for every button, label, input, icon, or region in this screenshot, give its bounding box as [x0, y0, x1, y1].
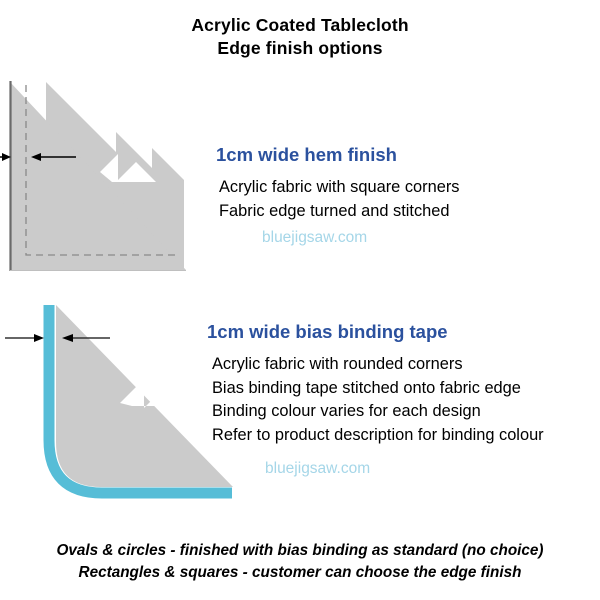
bias-watermark: bluejigsaw.com [207, 458, 600, 480]
bias-description-line: Acrylic fabric with rounded corners [212, 353, 600, 377]
page-title: Acrylic Coated Tablecloth Edge finish op… [0, 14, 600, 60]
bias-description-line: Bias binding tape stitched onto fabric e… [212, 377, 600, 401]
title-line-1: Acrylic Coated Tablecloth [0, 14, 600, 37]
bias-description-list: Acrylic fabric with rounded corners Bias… [207, 353, 600, 447]
diagram-canvas: Acrylic Coated Tablecloth Edge finish op… [0, 0, 600, 600]
footer-note: Ovals & circles - finished with bias bin… [0, 540, 600, 584]
hem-finish-text-block: 1cm wide hem finish Acrylic fabric with … [210, 143, 600, 249]
footer-line-1: Ovals & circles - finished with bias bin… [0, 540, 600, 562]
hem-section-heading: 1cm wide hem finish [210, 143, 600, 167]
hem-watermark: bluejigsaw.com [210, 227, 600, 249]
title-line-2: Edge finish options [0, 37, 600, 60]
bias-section-heading: 1cm wide bias binding tape [207, 320, 600, 344]
hem-description-list: Acrylic fabric with square corners Fabri… [210, 176, 600, 223]
footer-line-2: Rectangles & squares - customer can choo… [0, 562, 600, 584]
bias-description-line: Binding colour varies for each design [212, 400, 600, 424]
hem-description-line: Fabric edge turned and stitched [219, 200, 600, 224]
bias-description-line: Refer to product description for binding… [212, 424, 600, 448]
hem-width-arrow-left [0, 153, 11, 161]
hem-description-line: Acrylic fabric with square corners [219, 176, 600, 200]
bias-binding-text-block: 1cm wide bias binding tape Acrylic fabri… [207, 320, 600, 480]
binding-width-arrow-left [5, 334, 44, 342]
